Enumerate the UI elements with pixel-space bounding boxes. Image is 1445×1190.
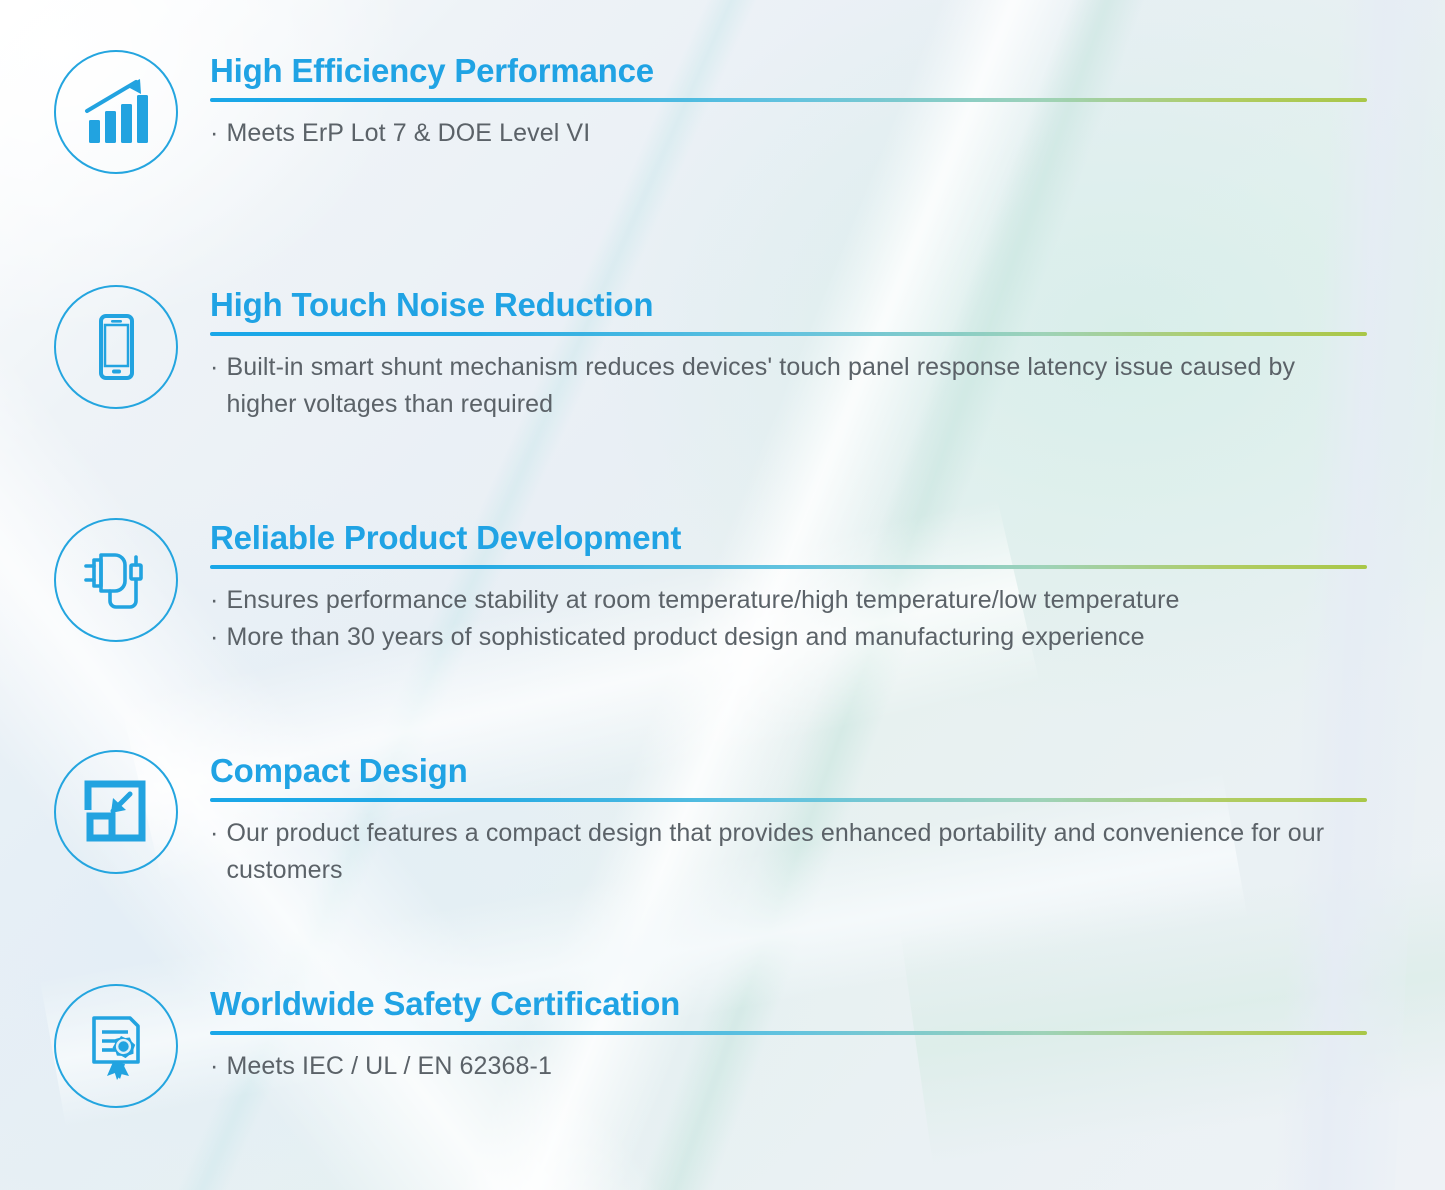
feature-bullets: · Meets ErP Lot 7 & DOE Level VI xyxy=(210,115,1368,153)
feature-body: High Efficiency Performance · Meets ErP … xyxy=(210,54,1368,152)
feature-bullet: · Our product features a compact design … xyxy=(210,815,1368,890)
features-list: High Efficiency Performance · Meets ErP … xyxy=(0,0,1445,1190)
feature-divider xyxy=(210,1031,1367,1035)
feature-bullets: · Built-in smart shunt mechanism reduces… xyxy=(210,349,1368,424)
feature-divider xyxy=(210,565,1367,569)
shrink-to-fit-icon xyxy=(54,750,178,874)
feature-bullets: · Meets IEC / UL / EN 62368-1 xyxy=(210,1048,1368,1086)
feature-divider xyxy=(210,332,1367,336)
feature-title: Compact Design xyxy=(210,754,1368,789)
bullet-marker: · xyxy=(210,349,218,424)
feature-title: Reliable Product Development xyxy=(210,521,1368,556)
bullet-marker: · xyxy=(210,582,218,620)
feature-bullet: · Meets ErP Lot 7 & DOE Level VI xyxy=(210,115,1368,153)
feature-bullet: · Ensures performance stability at room … xyxy=(210,582,1368,620)
feature-bullets: · Our product features a compact design … xyxy=(210,815,1368,890)
feature-divider xyxy=(210,98,1367,102)
bullet-text: Meets IEC / UL / EN 62368-1 xyxy=(226,1048,1368,1086)
feature-body: Compact Design · Our product features a … xyxy=(210,754,1368,890)
bullet-marker: · xyxy=(210,1048,218,1086)
feature-bullet: · Built-in smart shunt mechanism reduces… xyxy=(210,349,1368,424)
feature-bullets: · Ensures performance stability at room … xyxy=(210,582,1368,657)
bullet-text: Ensures performance stability at room te… xyxy=(226,582,1368,620)
bullet-text: Our product features a compact design th… xyxy=(226,815,1368,890)
feature-title: High Touch Noise Reduction xyxy=(210,288,1368,323)
bullet-text: More than 30 years of sophisticated prod… xyxy=(226,619,1368,657)
bar-chart-growth-icon xyxy=(54,50,178,174)
feature-bullet: · More than 30 years of sophisticated pr… xyxy=(210,619,1368,657)
bullet-text: Meets ErP Lot 7 & DOE Level VI xyxy=(226,115,1368,153)
feature-body: Reliable Product Development · Ensures p… xyxy=(210,521,1368,657)
feature-highlights-page: High Efficiency Performance · Meets ErP … xyxy=(0,0,1445,1190)
smartphone-icon xyxy=(54,285,178,409)
certificate-award-icon xyxy=(54,984,178,1108)
feature-divider xyxy=(210,798,1367,802)
feature-body: High Touch Noise Reduction · Built-in sm… xyxy=(210,288,1368,424)
feature-bullet: · Meets IEC / UL / EN 62368-1 xyxy=(210,1048,1368,1086)
feature-title: Worldwide Safety Certification xyxy=(210,987,1368,1022)
feature-title: High Efficiency Performance xyxy=(210,54,1368,89)
bullet-marker: · xyxy=(210,115,218,153)
bullet-marker: · xyxy=(210,619,218,657)
power-adapter-icon xyxy=(54,518,178,642)
bullet-text: Built-in smart shunt mechanism reduces d… xyxy=(226,349,1368,424)
feature-body: Worldwide Safety Certification · Meets I… xyxy=(210,987,1368,1085)
bullet-marker: · xyxy=(210,815,218,890)
